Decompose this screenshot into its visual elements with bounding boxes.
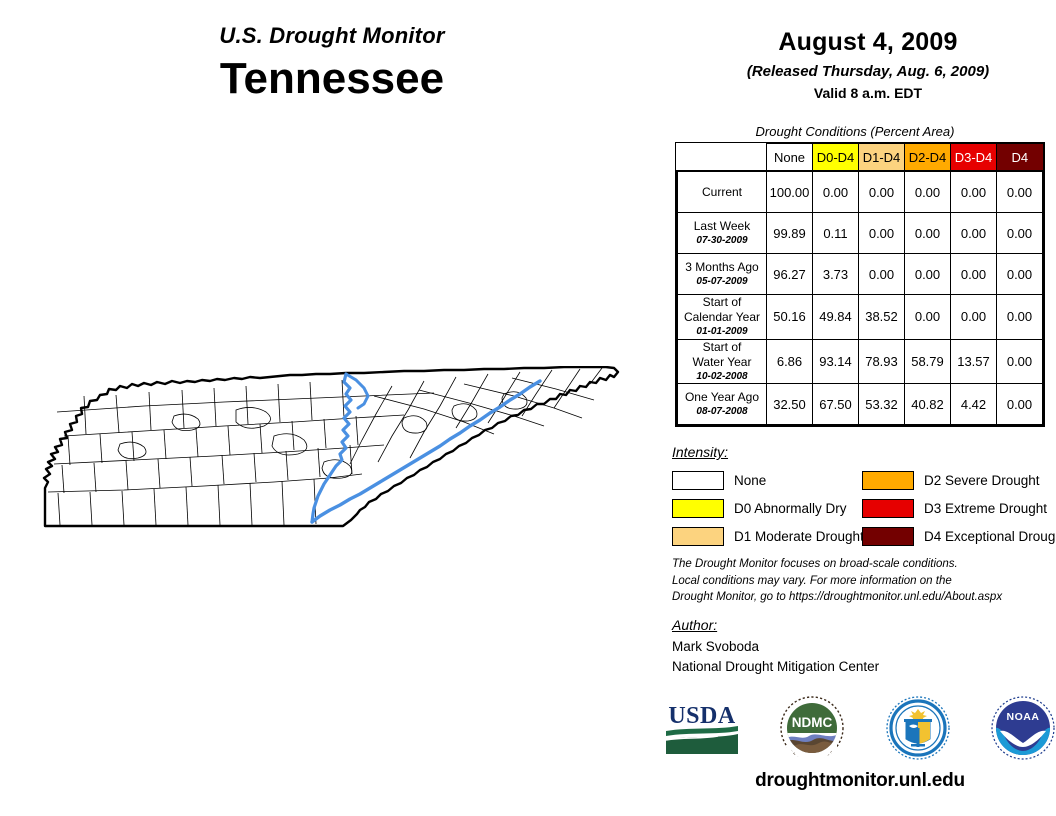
svg-text:NDMC: NDMC	[792, 715, 833, 730]
intensity-legend-left-column: NoneD0 Abnormally DryD1 Moderate Drought	[672, 468, 862, 552]
disclaimer-line-1: The Drought Monitor focuses on broad-sca…	[672, 556, 1056, 573]
table-cell: 4.42	[951, 384, 997, 426]
table-row-date: 05-07-2009	[678, 276, 766, 289]
table-row-date: 08-07-2008	[678, 406, 766, 419]
intensity-legend-right-column: D2 Severe DroughtD3 Extreme DroughtD4 Ex…	[862, 468, 1056, 552]
table-cell: 49.84	[813, 295, 859, 340]
table-row-label: Start ofCalendar Year01-01-2009	[677, 295, 767, 340]
usda-logo: USDA	[664, 700, 740, 761]
legend-item: D4 Exceptional Drought	[862, 524, 1056, 548]
disclaimer-text: The Drought Monitor focuses on broad-sca…	[672, 556, 1056, 606]
state-title: Tennessee	[0, 54, 664, 105]
intensity-legend-title: Intensity:	[672, 444, 728, 460]
table-header-row: NoneD0-D4D1-D4D2-D4D3-D4D4	[677, 144, 1043, 172]
table-cell: 40.82	[905, 384, 951, 426]
usdc-seal-logo	[885, 695, 951, 766]
table-cell: 0.00	[905, 213, 951, 254]
table-cell: 67.50	[813, 384, 859, 426]
table-cell: 0.00	[951, 254, 997, 295]
table-row-label-text: One Year Ago	[678, 390, 766, 405]
table-column-header-d3-d4: D3-D4	[951, 144, 997, 172]
state-outline	[44, 367, 618, 526]
tennessee-drought-map	[24, 366, 640, 546]
table-column-header-d0-d4: D0-D4	[813, 144, 859, 172]
table-cell: 78.93	[859, 339, 905, 384]
disclaimer-line-3: Drought Monitor, go to https://droughtmo…	[672, 589, 1056, 606]
table-cell: 0.00	[997, 171, 1044, 213]
table-row: 3 Months Ago05-07-200996.273.730.000.000…	[677, 254, 1043, 295]
program-title: U.S. Drought Monitor	[0, 24, 664, 48]
table-cell: 100.00	[767, 171, 813, 213]
legend-item-label: D4 Exceptional Drought	[924, 529, 1056, 544]
drought-conditions-table: NoneD0-D4D1-D4D2-D4D3-D4D4 Current100.00…	[676, 143, 1044, 426]
table-cell: 0.11	[813, 213, 859, 254]
table-row-label: 3 Months Ago05-07-2009	[677, 254, 767, 295]
legend-item: D2 Severe Drought	[862, 468, 1056, 492]
legend-item-label: None	[734, 473, 766, 488]
legend-color-swatch	[862, 471, 914, 490]
legend-color-swatch	[862, 499, 914, 518]
table-row-label-text: Last Week	[678, 219, 766, 234]
table-header-spacer	[677, 144, 767, 172]
release-date: August 4, 2009	[680, 28, 1056, 57]
noaa-logo: NOAA	[990, 695, 1056, 766]
table-row-label-line2: Water Year	[678, 355, 766, 370]
table-cell: 38.52	[859, 295, 905, 340]
table-cell: 0.00	[813, 171, 859, 213]
table-cell: 0.00	[997, 384, 1044, 426]
table-cell: 0.00	[997, 254, 1044, 295]
table-head: NoneD0-D4D1-D4D2-D4D3-D4D4	[677, 144, 1043, 172]
table-cell: 53.32	[859, 384, 905, 426]
svg-text:USDA: USDA	[668, 703, 736, 729]
table-cell: 0.00	[859, 254, 905, 295]
table-cell: 99.89	[767, 213, 813, 254]
legend-item-label: D0 Abnormally Dry	[734, 501, 847, 516]
table-cell: 50.16	[767, 295, 813, 340]
svg-text:NOAA: NOAA	[1007, 711, 1040, 723]
table-row-date: 07-30-2009	[678, 235, 766, 248]
table-row-label-text: Current	[678, 185, 766, 200]
legend-color-swatch	[672, 471, 724, 490]
legend-item-label: D2 Severe Drought	[924, 473, 1040, 488]
author-name: Mark Svoboda	[672, 637, 879, 657]
table-column-header-d4: D4	[997, 144, 1044, 172]
legend-color-swatch	[672, 527, 724, 546]
table-cell: 6.86	[767, 339, 813, 384]
legend-item-label: D3 Extreme Drought	[924, 501, 1047, 516]
table-cell: 93.14	[813, 339, 859, 384]
table-cell: 0.00	[905, 254, 951, 295]
table-cell: 0.00	[859, 171, 905, 213]
legend-item: None	[672, 468, 862, 492]
table-row: Start ofWater Year10-02-20086.8693.1478.…	[677, 339, 1043, 384]
table-row: One Year Ago08-07-200832.5067.5053.3240.…	[677, 384, 1043, 426]
released-note: (Released Thursday, Aug. 6, 2009)	[680, 63, 1056, 80]
date-block: August 4, 2009 (Released Thursday, Aug. …	[680, 28, 1056, 101]
legend-color-swatch	[672, 499, 724, 518]
table-cell: 0.00	[905, 295, 951, 340]
table-row-date: 01-01-2009	[678, 326, 766, 339]
site-url: droughtmonitor.unl.edu	[664, 770, 1056, 792]
table-cell: 32.50	[767, 384, 813, 426]
table-cell: 3.73	[813, 254, 859, 295]
table-row-label: One Year Ago08-07-2008	[677, 384, 767, 426]
table-row: Start ofCalendar Year01-01-200950.1649.8…	[677, 295, 1043, 340]
table-cell: 0.00	[951, 295, 997, 340]
legend-item: D1 Moderate Drought	[672, 524, 862, 548]
table-cell: 0.00	[997, 295, 1044, 340]
table-row-label-text: 3 Months Ago	[678, 260, 766, 275]
table-cell: 0.00	[951, 171, 997, 213]
table-row-label: Last Week07-30-2009	[677, 213, 767, 254]
table-cell: 0.00	[997, 213, 1044, 254]
legend-item: D0 Abnormally Dry	[672, 496, 862, 520]
table-cell: 0.00	[951, 213, 997, 254]
table-column-header-none: None	[767, 144, 813, 172]
map-svg	[24, 366, 640, 546]
table-row-label: Start ofWater Year10-02-2008	[677, 339, 767, 384]
table-caption: Drought Conditions (Percent Area)	[680, 124, 1030, 139]
table-cell: 13.57	[951, 339, 997, 384]
table-body: Current100.000.000.000.000.000.00Last We…	[677, 171, 1043, 425]
table-row-label: Current	[677, 171, 767, 213]
table-cell: 0.00	[859, 213, 905, 254]
table-cell: 0.00	[997, 339, 1044, 384]
table-cell: 58.79	[905, 339, 951, 384]
valid-note: Valid 8 a.m. EDT	[680, 85, 1056, 101]
title-block: U.S. Drought Monitor Tennessee	[0, 24, 664, 105]
author-details: Mark Svoboda National Drought Mitigation…	[672, 637, 879, 678]
legend-item: D3 Extreme Drought	[862, 496, 1056, 520]
table-row: Current100.000.000.000.000.000.00	[677, 171, 1043, 213]
legend-color-swatch	[862, 527, 914, 546]
table-row-label-line1: Start of	[678, 295, 766, 310]
disclaimer-line-2: Local conditions may vary. For more info…	[672, 573, 1056, 590]
table-cell: 0.00	[905, 171, 951, 213]
table-row-label-line1: Start of	[678, 340, 766, 355]
table-cell: 96.27	[767, 254, 813, 295]
partner-logos: USDA NDMC	[664, 694, 1056, 766]
legend-item-label: D1 Moderate Drought	[734, 529, 864, 544]
table-column-header-d2-d4: D2-D4	[905, 144, 951, 172]
table-row: Last Week07-30-200999.890.110.000.000.00…	[677, 213, 1043, 254]
author-heading: Author:	[672, 617, 717, 633]
table-row-date: 10-02-2008	[678, 371, 766, 384]
author-organization: National Drought Mitigation Center	[672, 657, 879, 677]
ndmc-logo: NDMC	[779, 695, 845, 766]
table-row-label-line2: Calendar Year	[678, 310, 766, 325]
table-column-header-d1-d4: D1-D4	[859, 144, 905, 172]
